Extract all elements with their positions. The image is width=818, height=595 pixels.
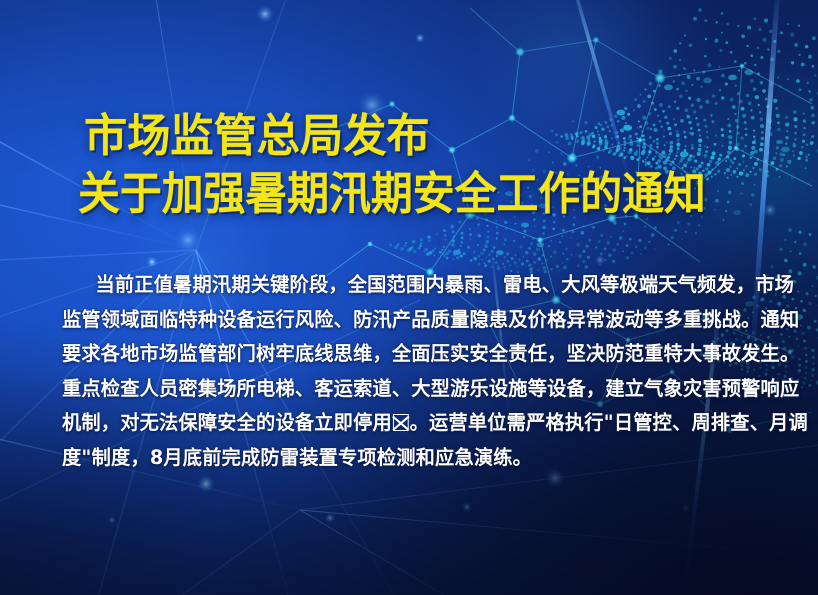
headline-line-1: 市场监管总局发布 (84, 108, 430, 164)
body-line-3: 要求各地市场监管部门树牢底线思维，全面压实安全责任，坚决防范重特大事故发生。 (62, 337, 752, 372)
poster-content: 市场监管总局发布 关于加强暑期汛期安全工作的通知 当前正值暑期汛期关键阶段，全国… (0, 0, 818, 595)
headline-line-2: 关于加强暑期汛期安全工作的通知 (78, 166, 706, 222)
body-line-6: 度"制度，8月底前完成防雷装置专项检测和应急演练。 (62, 441, 752, 476)
body-line-4: 重点检查人员密集场所电梯、客运索道、大型游乐设施等设备，建立气象灾害预警响应 (62, 372, 752, 407)
missing-glyph-icon (393, 414, 409, 431)
body-line-5-before: 机制，对无法保障安全的设备立即停用 (62, 411, 392, 434)
body-paragraph: 当前正值暑期汛期关键阶段，全国范围内暴雨、雷电、大风等极端天气频发，市场 监管领… (62, 268, 762, 475)
body-line-5-after: 。运营单位需严格执行"日管控、周排查、月调 (410, 411, 808, 434)
body-line-1: 当前正值暑期汛期关键阶段，全国范围内暴雨、雷电、大风等极端天气频发，市场 (62, 268, 752, 303)
poster-banner: 市场监管总局发布 关于加强暑期汛期安全工作的通知 当前正值暑期汛期关键阶段，全国… (0, 0, 818, 595)
body-line-2: 监管领域面临特种设备运行风险、防汛产品质量隐患及价格异常波动等多重挑战。通知 (62, 303, 752, 338)
body-line-5: 机制，对无法保障安全的设备立即停用。运营单位需严格执行"日管控、周排查、月调 (62, 406, 752, 441)
